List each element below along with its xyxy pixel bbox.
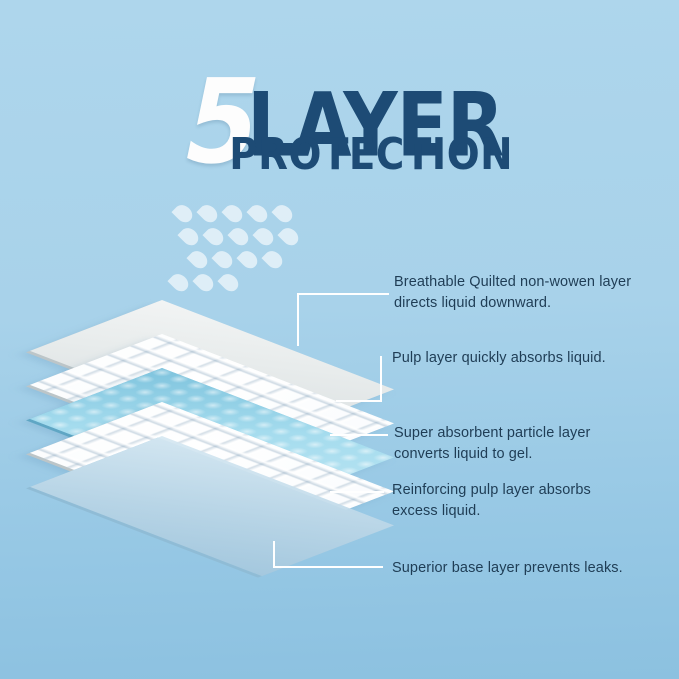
label-layer-3: Super absorbent particle layer converts … xyxy=(394,423,674,465)
label-layer-1-line-1: Breathable Quilted non-wowen layer xyxy=(394,272,674,293)
label-layer-3-line-2: converts liquid to gel. xyxy=(394,444,674,465)
label-layer-5: Superior base layer prevents leaks. xyxy=(392,558,672,579)
connector-5-horizontal xyxy=(273,566,383,568)
label-layer-4: Reinforcing pulp layer absorbs excess li… xyxy=(392,480,672,522)
connector-4-horizontal xyxy=(330,491,384,493)
label-layer-1: Breathable Quilted non-wowen layer direc… xyxy=(394,272,674,314)
connector-2-vertical xyxy=(380,356,382,402)
connector-3-horizontal xyxy=(330,434,388,436)
label-layer-4-line-1: Reinforcing pulp layer absorbs xyxy=(392,480,672,501)
label-layer-4-line-2: excess liquid. xyxy=(392,501,672,522)
connector-5-vertical xyxy=(273,541,275,567)
connector-1-vertical xyxy=(297,294,299,346)
connector-1-horizontal xyxy=(297,293,389,295)
label-layer-3-line-1: Super absorbent particle layer xyxy=(394,423,674,444)
label-layer-2-line-1: Pulp layer quickly absorbs liquid. xyxy=(392,348,672,369)
label-layer-1-line-2: directs liquid downward. xyxy=(394,293,674,314)
layer-5-surface xyxy=(30,436,394,576)
label-layer-5-line-1: Superior base layer prevents leaks. xyxy=(392,558,672,579)
label-layer-2: Pulp layer quickly absorbs liquid. xyxy=(392,348,672,369)
infographic-canvas: 5LAYER PROTECTION xyxy=(0,0,679,679)
connector-2-horizontal xyxy=(336,400,382,402)
layer-5-superior-base-layer[interactable] xyxy=(42,436,342,612)
